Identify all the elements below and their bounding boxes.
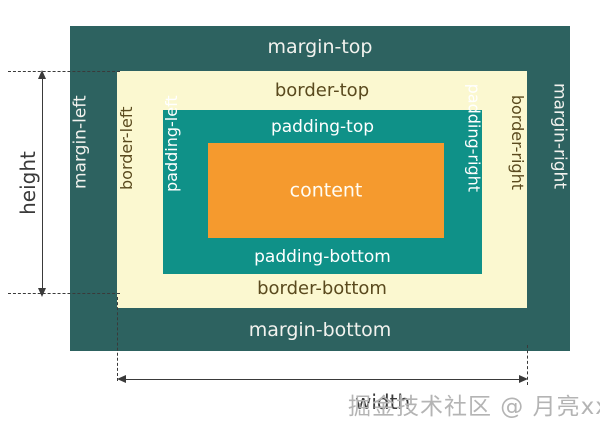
margin-top-label: margin-top — [70, 38, 570, 57]
content-box: content — [208, 143, 444, 238]
width-arrow-left-icon — [117, 375, 126, 383]
height-arrow-up-icon — [38, 70, 46, 79]
border-right-label: border-right — [509, 94, 525, 189]
width-dimension-line — [120, 379, 524, 380]
margin-box: margin-top margin-bottom margin-left mar… — [70, 26, 570, 351]
guide-line-top — [8, 71, 120, 72]
content-label: content — [208, 181, 444, 200]
padding-box: padding-top padding-bottom padding-left … — [163, 110, 482, 274]
margin-right-label: margin-right — [551, 82, 568, 188]
margin-left-label: margin-left — [73, 95, 90, 189]
padding-right-label: padding-right — [465, 84, 481, 192]
guide-line-left — [117, 297, 118, 381]
height-label: height — [16, 151, 40, 215]
border-box: border-top border-bottom border-left bor… — [117, 71, 527, 308]
css-box-model-diagram: margin-top margin-bottom margin-left mar… — [0, 0, 600, 420]
height-arrow-down-icon — [38, 288, 46, 297]
width-arrow-right-icon — [519, 375, 528, 383]
padding-left-label: padding-left — [164, 95, 180, 192]
height-dimension-line — [42, 76, 43, 290]
watermark: 掘金技术社区 @ 月亮xx — [348, 387, 600, 421]
margin-bottom-label: margin-bottom — [70, 321, 570, 340]
border-bottom-label: border-bottom — [117, 280, 527, 298]
guide-line-bottom — [8, 293, 120, 294]
padding-bottom-label: padding-bottom — [163, 249, 482, 266]
border-left-label: border-left — [119, 106, 135, 189]
padding-top-label: padding-top — [163, 119, 482, 136]
